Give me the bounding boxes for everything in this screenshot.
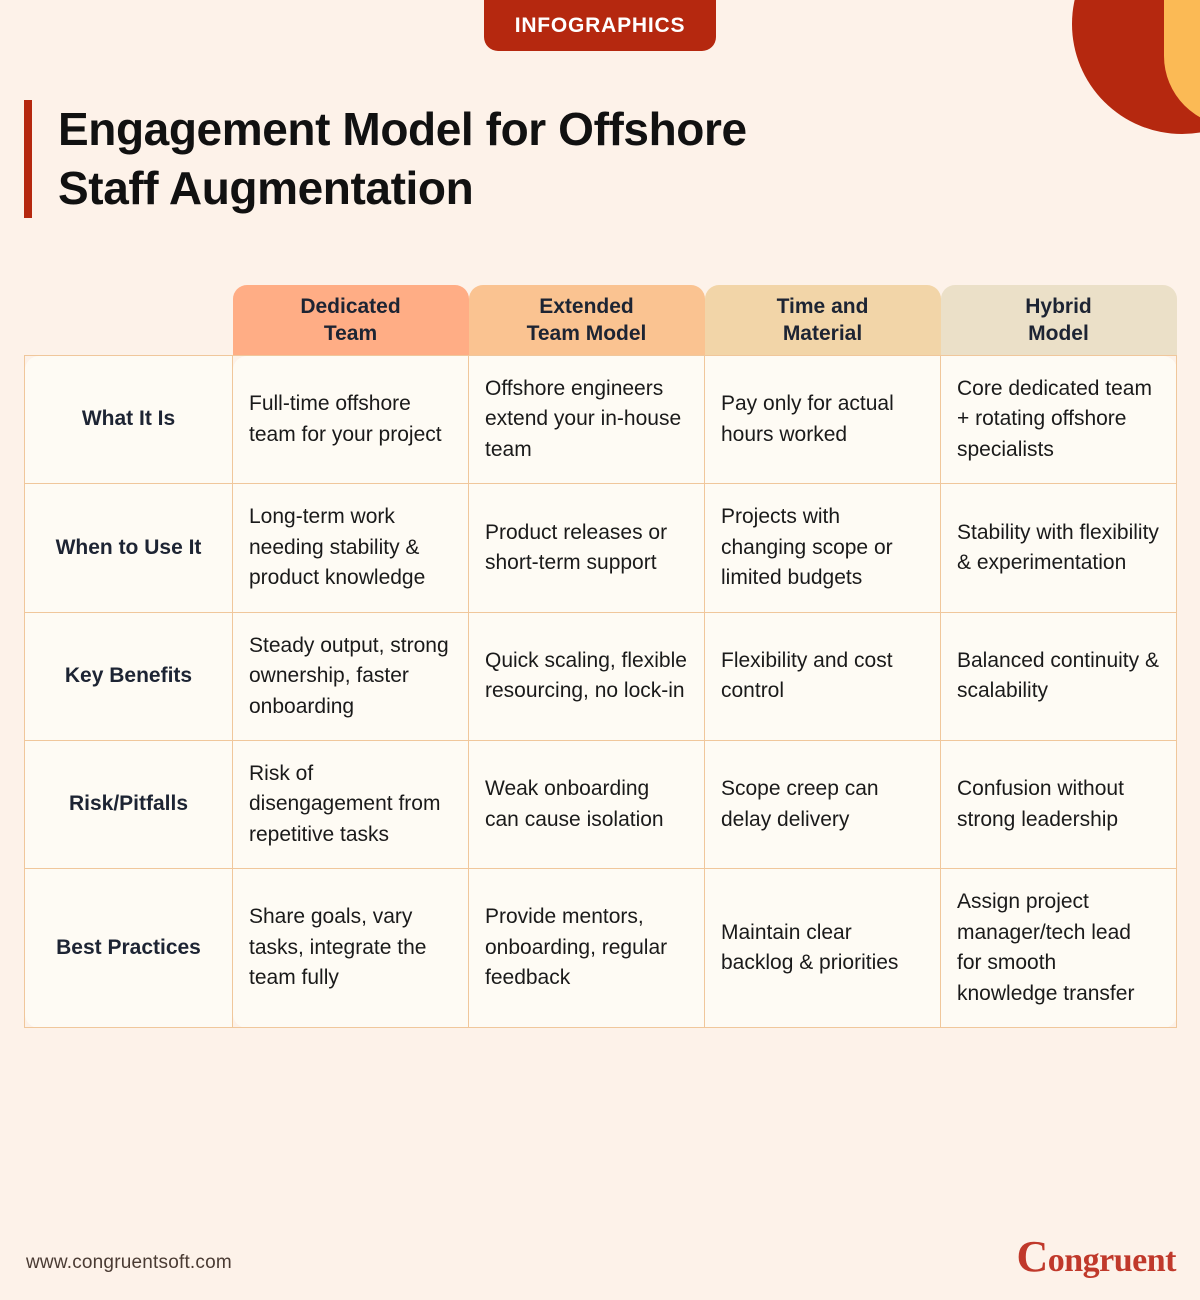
title-accent-bar — [24, 100, 32, 218]
row-label-2: Key Benefits — [25, 612, 233, 740]
cell-2-1: Quick scaling, flexible resourcing, no l… — [469, 612, 705, 740]
table-header-col-2: Time and Material — [705, 285, 941, 356]
table-body: What It Is Full-time offshore team for y… — [25, 356, 1177, 1028]
row-label-0: What It Is — [25, 356, 233, 484]
logo-wordmark: ongruent — [1048, 1242, 1176, 1279]
infographic-page: INFOGRAPHICS Engagement Model for Offsho… — [0, 0, 1200, 1300]
cell-2-0: Steady output, strong ownership, faster … — [233, 612, 469, 740]
table-header-col-1: Extended Team Model — [469, 285, 705, 356]
table-header: Dedicated Team Extended Team Model Time … — [25, 285, 1177, 356]
table-row: When to Use It Long-term work needing st… — [25, 484, 1177, 612]
logo-initial: C — [1016, 1232, 1047, 1281]
table-header-col-3: Hybrid Model — [941, 285, 1177, 356]
cell-4-0: Share goals, vary tasks, integrate the t… — [233, 869, 469, 1028]
table-header-corner — [25, 285, 233, 356]
table-header-label-1: Extended Team Model — [527, 293, 647, 348]
cell-0-0: Full-time offshore team for your project — [233, 356, 469, 484]
cell-0-2: Pay only for actual hours worked — [705, 356, 941, 484]
table-row: Risk/Pitfalls Risk of disengagement from… — [25, 740, 1177, 868]
row-label-4: Best Practices — [25, 869, 233, 1028]
page-title: Engagement Model for Offshore Staff Augm… — [24, 100, 747, 218]
cell-4-3: Assign project manager/tech lead for smo… — [941, 869, 1177, 1028]
cell-4-1: Provide mentors, onboarding, regular fee… — [469, 869, 705, 1028]
cell-3-0: Risk of disengagement from repetitive ta… — [233, 740, 469, 868]
row-label-1: When to Use It — [25, 484, 233, 612]
cell-1-0: Long-term work needing stability & produ… — [233, 484, 469, 612]
comparison-table: Dedicated Team Extended Team Model Time … — [24, 285, 1177, 1028]
cell-2-2: Flexibility and cost control — [705, 612, 941, 740]
table-row: Key Benefits Steady output, strong owner… — [25, 612, 1177, 740]
table-header-label-2: Time and Material — [777, 293, 869, 348]
footer-website-url[interactable]: www.congruentsoft.com — [26, 1252, 232, 1274]
table-header-col-0: Dedicated Team — [233, 285, 469, 356]
cell-1-3: Stability with flexibility & experimenta… — [941, 484, 1177, 612]
table-header-label-3: Hybrid Model — [1025, 293, 1092, 348]
page-title-text: Engagement Model for Offshore Staff Augm… — [58, 100, 747, 218]
cell-3-1: Weak onboarding can cause isolation — [469, 740, 705, 868]
table-row: Best Practices Share goals, vary tasks, … — [25, 869, 1177, 1028]
congruent-logo: Congruent — [1016, 1242, 1176, 1280]
cell-1-2: Projects with changing scope or limited … — [705, 484, 941, 612]
cell-0-3: Core dedicated team + rotating offshore … — [941, 356, 1177, 484]
cell-3-3: Confusion without strong leadership — [941, 740, 1177, 868]
table-header-row: Dedicated Team Extended Team Model Time … — [25, 285, 1177, 356]
row-label-3: Risk/Pitfalls — [25, 740, 233, 868]
table-header-label-0: Dedicated Team — [300, 293, 400, 348]
infographics-badge: INFOGRAPHICS — [484, 0, 716, 51]
table-row: What It Is Full-time offshore team for y… — [25, 356, 1177, 484]
cell-2-3: Balanced continuity & scalability — [941, 612, 1177, 740]
footer: www.congruentsoft.com Congruent — [0, 1240, 1200, 1300]
cell-4-2: Maintain clear backlog & priorities — [705, 869, 941, 1028]
cell-3-2: Scope creep can delay delivery — [705, 740, 941, 868]
comparison-table-wrapper: Dedicated Team Extended Team Model Time … — [24, 285, 1176, 1028]
cell-1-1: Product releases or short-term support — [469, 484, 705, 612]
infographics-badge-label: INFOGRAPHICS — [515, 14, 686, 38]
cell-0-1: Offshore engineers extend your in-house … — [469, 356, 705, 484]
